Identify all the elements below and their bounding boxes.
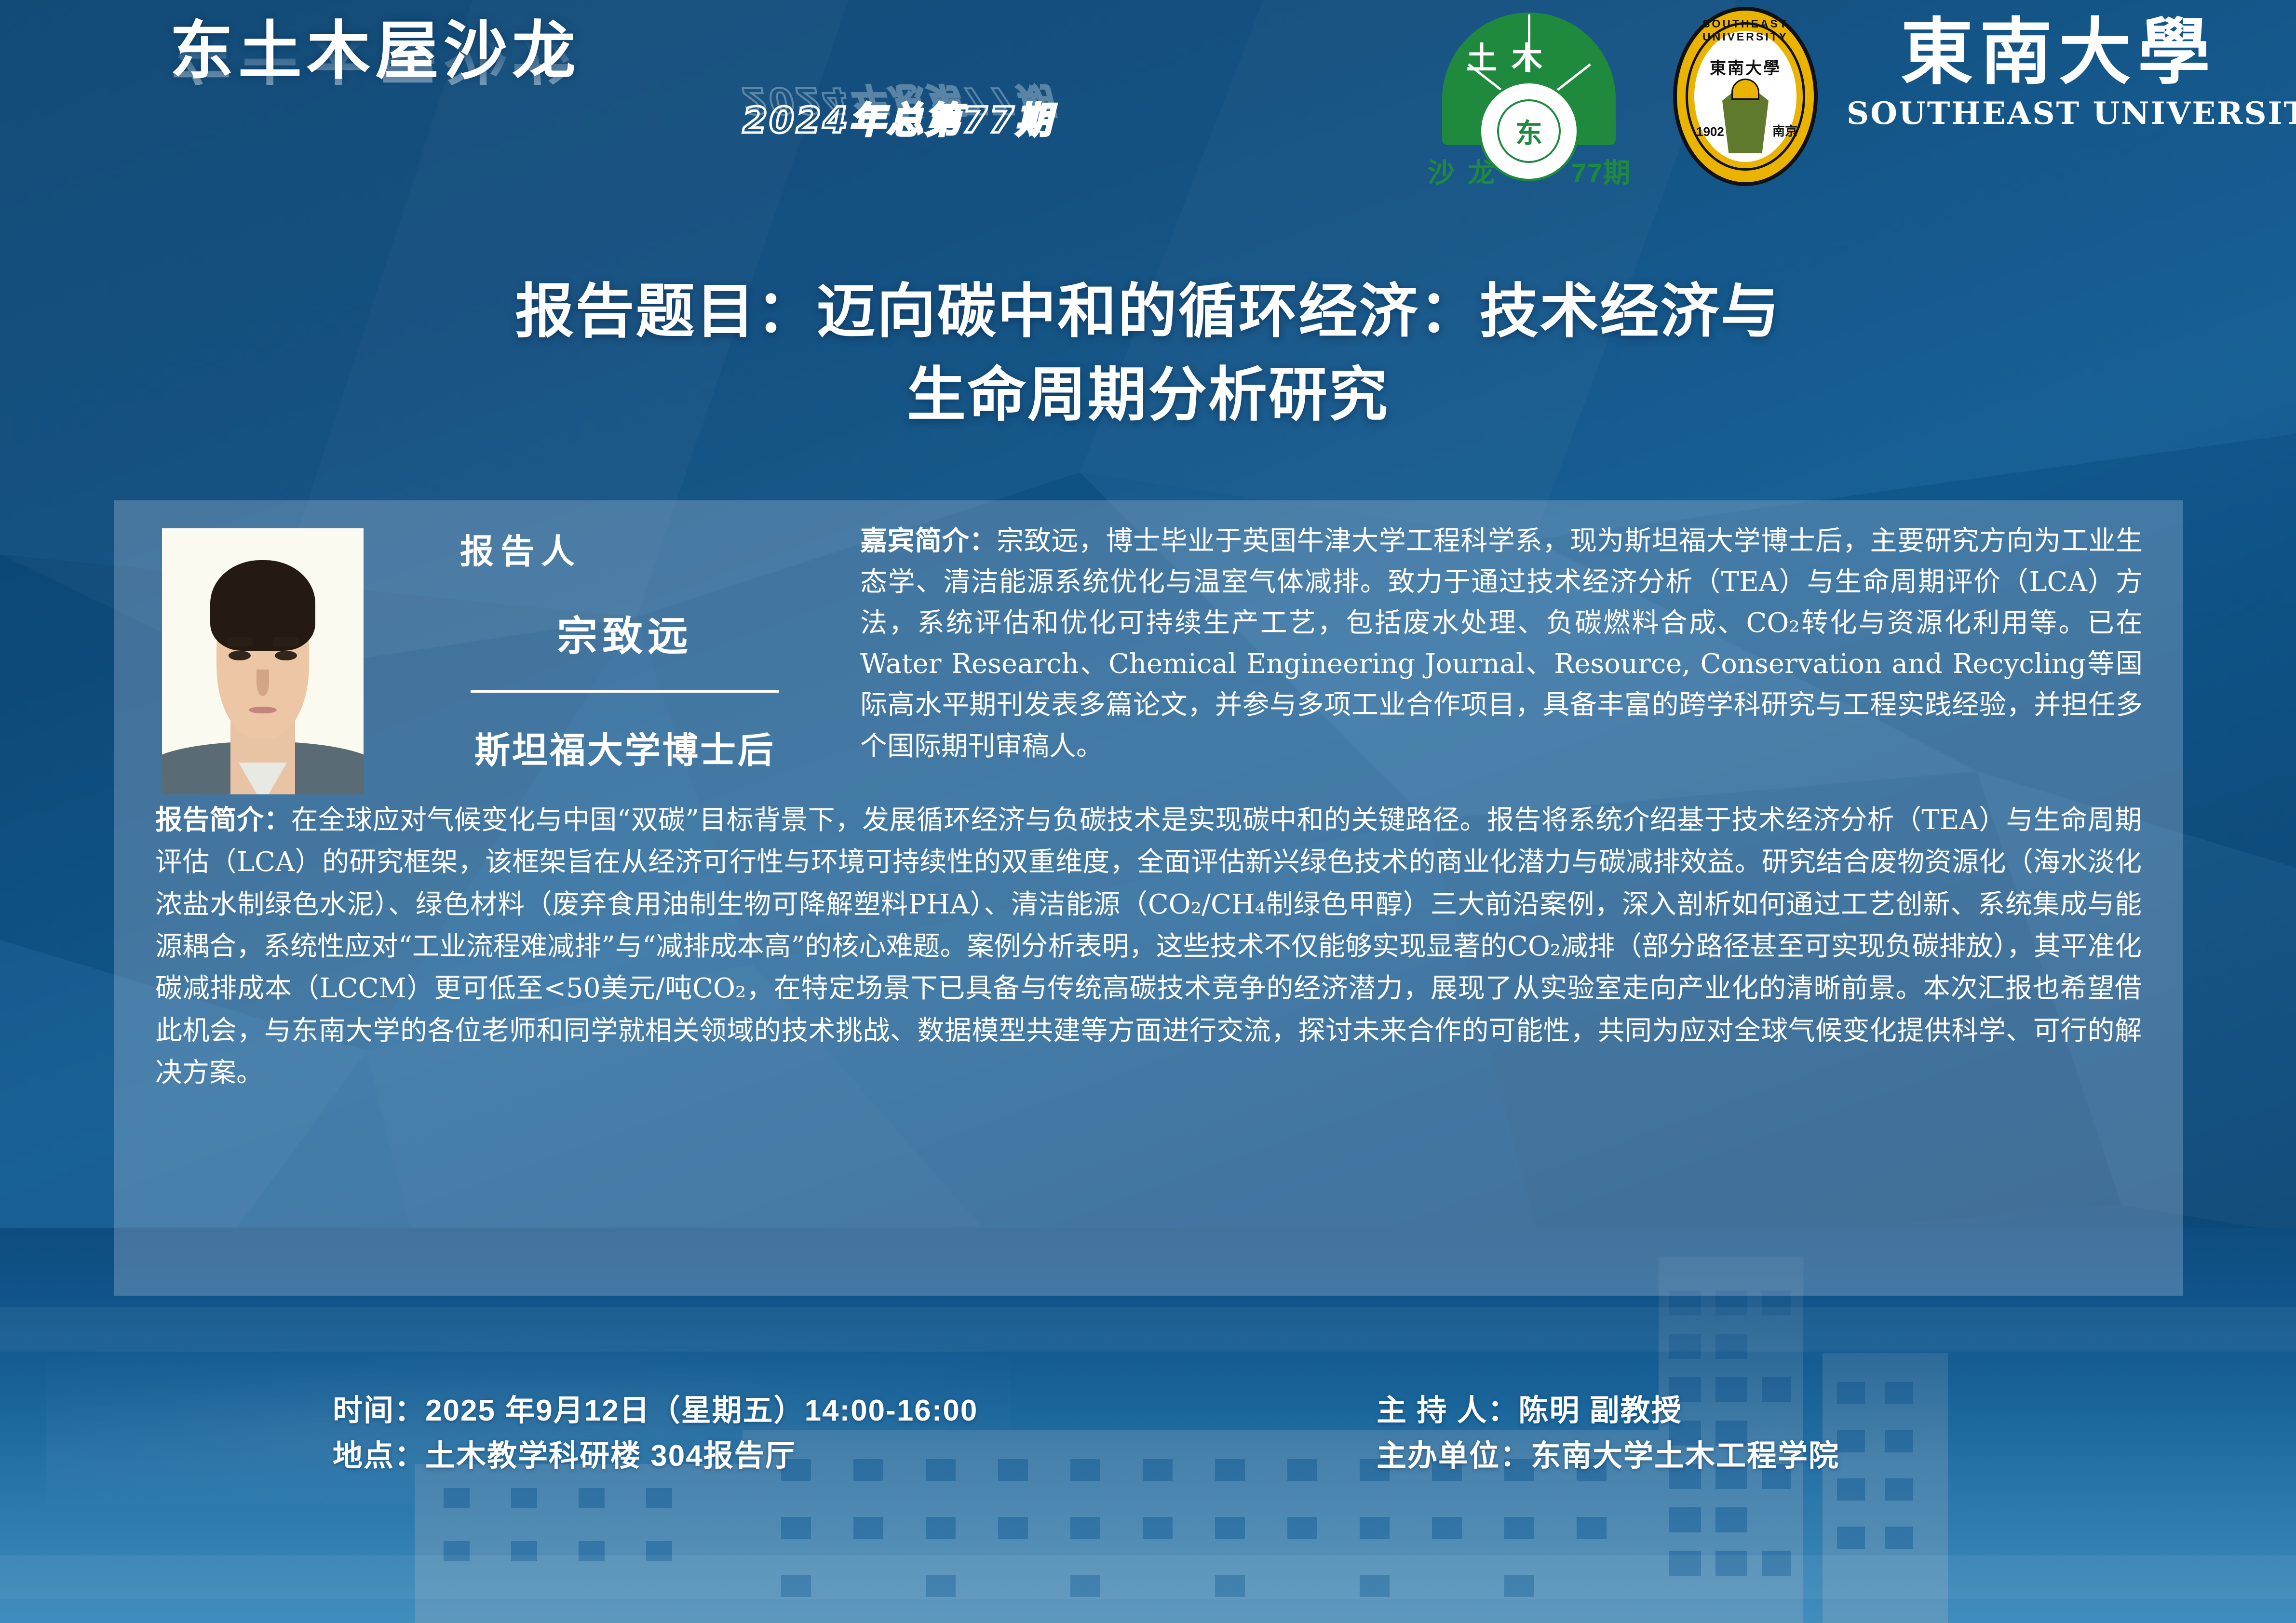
seu-wordmark-english: SOUTHEAST UNIVERSITY: [1847, 95, 2271, 132]
seu-wordmark: 東南大學 SOUTHEAST UNIVERSITY: [1847, 14, 2271, 132]
emblem-seal-center: 东: [1497, 99, 1561, 163]
seal-center-text: 東南大學: [1673, 55, 1818, 79]
speaker-meta: 报告人 宗致远 斯坦福大学博士后: [446, 524, 803, 773]
event-organizer: 主办单位：东南大学土木工程学院: [1377, 1434, 1839, 1479]
poster-header: 东土木屋沙龙 东土木屋沙龙 2024年总第77期 2024年总第77期 土木 东…: [0, 0, 2296, 207]
poster-title: 报告题目：迈向碳中和的循环经济：技术经济与 生命周期分析研究: [0, 270, 2296, 437]
content-panel: 报告人 宗致远 斯坦福大学博士后 嘉宾简介：宗致远，博士毕业于英国牛津大学工程科…: [114, 500, 2183, 1296]
footer-left-column: 时间：2025 年9月12日（星期五）14:00-16:00 地点：土木教学科研…: [333, 1388, 978, 1479]
decorative-band-upper: [0, 1307, 2296, 1352]
decorative-band-lower: [0, 1555, 2296, 1599]
poster-footer: 时间：2025 年9月12日（星期五）14:00-16:00 地点：土木教学科研…: [0, 1388, 2296, 1504]
title-line-1: 报告题目：迈向碳中和的循环经济：技术经济与: [0, 270, 2296, 353]
issue-label: 2024年总第77期: [743, 92, 1053, 143]
event-time: 时间：2025 年9月12日（星期五）14:00-16:00: [333, 1388, 978, 1434]
seu-university-seal: SOUTHEAST UNIVERSITY 東南大學 1902 南京: [1673, 7, 1818, 186]
speaker-affiliation: 斯坦福大学博士后: [446, 722, 803, 773]
speaker-role-label: 报告人: [446, 524, 803, 573]
seal-city: 南京: [1772, 121, 1797, 139]
event-location: 地点：土木教学科研楼 304报告厅: [333, 1434, 978, 1479]
seu-wordmark-chinese: 東南大學: [1847, 14, 2271, 91]
abstract-label: 报告简介：: [155, 804, 291, 836]
civil-engineering-school-emblem: 土木 东 沙 龙 77期: [1425, 9, 1632, 194]
abstract-text: 在全球应对气候变化与中国“双碳”目标背景下，发展循环经济与负碳技术是实现碳中和的…: [155, 805, 2142, 1088]
seminar-poster: 东土木屋沙龙 东土木屋沙龙 2024年总第77期 2024年总第77期 土木 东…: [0, 0, 2296, 1623]
speaker-portrait-photo: [162, 528, 364, 794]
emblem-salon-label: 沙 龙: [1428, 151, 1498, 190]
salon-logo-text: 东土木屋沙龙: [170, 19, 581, 83]
guest-bio-text: 宗致远，博士毕业于英国牛津大学工程科学系，现为斯坦福大学博士后，主要研究方向为工…: [860, 525, 2143, 762]
seal-arc-text: SOUTHEAST UNIVERSITY: [1673, 17, 1818, 43]
guest-bio-label: 嘉宾简介：: [860, 525, 997, 557]
guest-bio-paragraph: 嘉宾简介：宗致远，博士毕业于英国牛津大学工程科学系，现为斯坦福大学博士后，主要研…: [860, 521, 2143, 767]
emblem-issue-number: 77期: [1571, 151, 1631, 190]
abstract-paragraph: 报告简介：在全球应对气候变化与中国“双碳”目标背景下，发展循环经济与负碳技术是实…: [155, 799, 2142, 1094]
title-line-2: 生命周期分析研究: [0, 353, 2296, 437]
speaker-section: 报告人 宗致远 斯坦福大学博士后 嘉宾简介：宗致远，博士毕业于英国牛津大学工程科…: [114, 500, 2183, 794]
seal-year: 1902: [1696, 124, 1724, 139]
speaker-name: 宗致远: [446, 604, 803, 662]
emblem-fan-text: 土木: [1425, 34, 1598, 78]
speaker-divider: [471, 690, 779, 693]
footer-right-column: 主 持 人：陈明 副教授 主办单位：东南大学土木工程学院: [1377, 1388, 1839, 1479]
event-host: 主 持 人：陈明 副教授: [1377, 1388, 1839, 1434]
